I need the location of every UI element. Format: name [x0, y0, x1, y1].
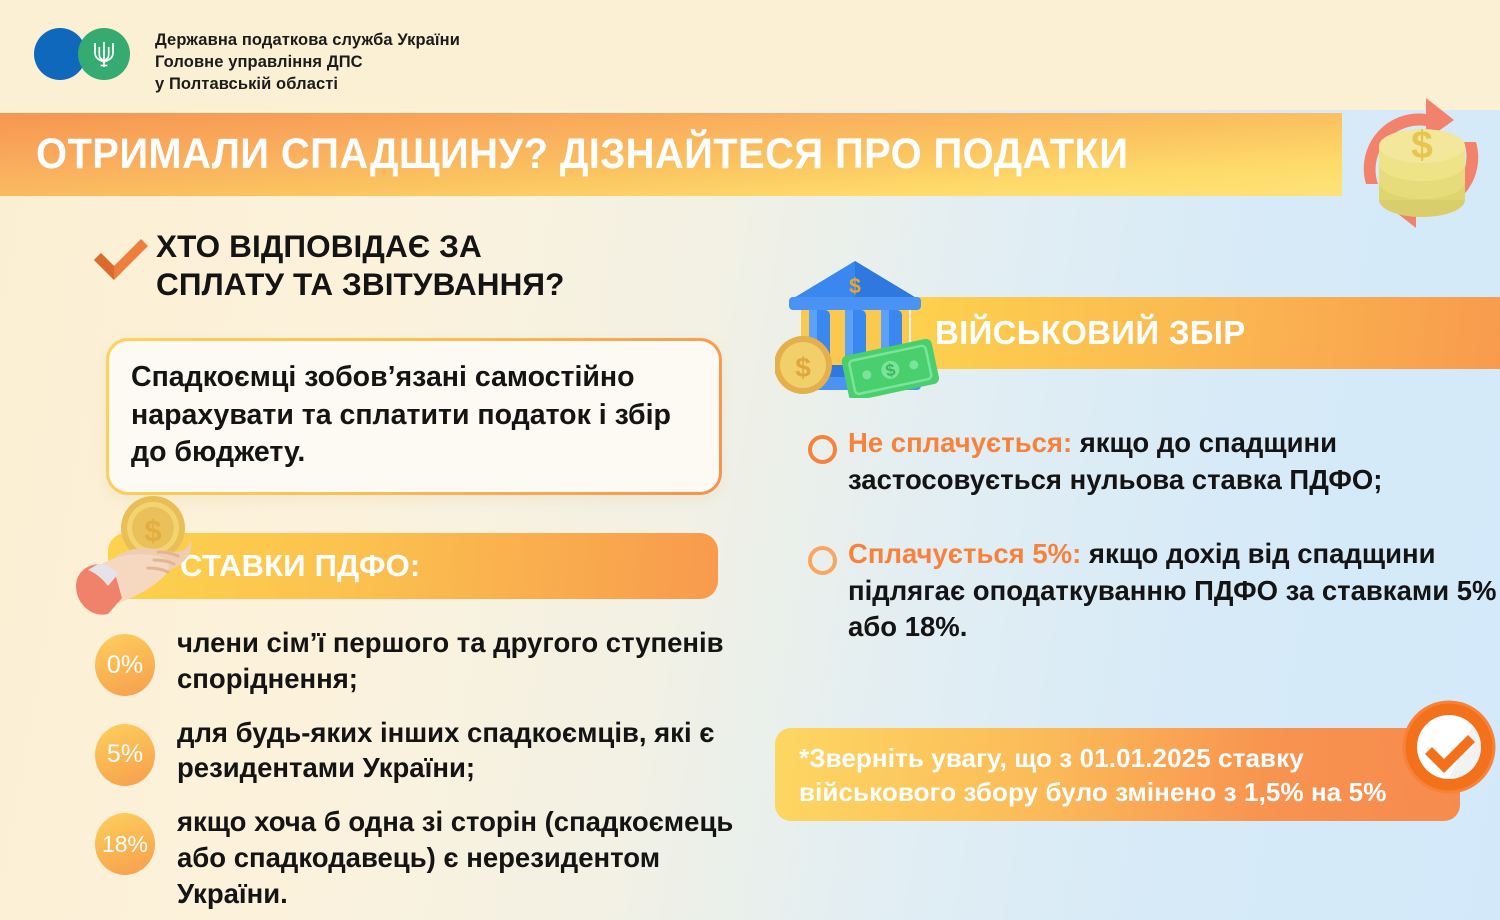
responsibility-info-text: Спадкоємці зобов’язані самостійно нараху… [131, 359, 697, 472]
responsibility-heading-line-2: СПЛАТУ ТА ЗВІТУВАННЯ? [156, 266, 565, 304]
bullet-item: Сплачується 5%: якщо дохід від спадщини … [808, 536, 1498, 646]
rate-description: члени сім’ї першого та другого ступенів … [177, 625, 745, 697]
rate-description: якщо хоча б одна зі сторін (спадкоємець … [177, 804, 745, 911]
svg-text:$: $ [144, 513, 161, 548]
orange-checkmark-icon [90, 234, 152, 284]
pdfo-rates-list: 0% члени сім’ї першого та другого ступен… [95, 625, 745, 920]
hand-holding-coin-icon: $ [62, 494, 220, 622]
rate-row: 0% члени сім’ї першого та другого ступен… [95, 625, 745, 697]
svg-text:$: $ [795, 352, 811, 383]
orange-check-badge-icon [1398, 696, 1500, 798]
rate-badge: 5% [95, 724, 155, 786]
bullet-lead: Сплачується 5%: [848, 538, 1081, 569]
military-levy-banner-label: ВІЙСЬКОВИЙ ЗБІР [935, 314, 1246, 352]
note-box: *Зверніть увагу, що з 01.01.2025 ставку … [775, 728, 1460, 821]
rate-row: 5% для будь-яких інших спадкоємців, які … [95, 715, 745, 787]
responsibility-heading-text: ХТО ВІДПОВІДАЄ ЗА СПЛАТУ ТА ЗВІТУВАННЯ? [156, 228, 565, 304]
responsibility-heading: ХТО ВІДПОВІДАЄ ЗА СПЛАТУ ТА ЗВІТУВАННЯ? [90, 228, 730, 304]
military-levy-bullets: Не сплачується: якщо до спадщини застосо… [808, 425, 1498, 684]
bullet-text: Не сплачується: якщо до спадщини застосо… [848, 425, 1498, 498]
responsibility-heading-line-1: ХТО ВІДПОВІДАЄ ЗА [156, 228, 565, 266]
bullet-text: Сплачується 5%: якщо дохід від спадщини … [848, 536, 1498, 646]
left-column: ХТО ВІДПОВІДАЄ ЗА СПЛАТУ ТА ЗВІТУВАННЯ? … [0, 0, 760, 920]
bank-money-icon: $ $ $ [775, 255, 940, 398]
ring-bullet-icon [808, 435, 837, 464]
rate-row: 18% якщо хоча б одна зі сторін (спадкоєм… [95, 804, 745, 911]
right-column: ВІЙСЬКОВИЙ ЗБІР $ $ [760, 0, 1500, 920]
rate-badge: 0% [95, 634, 155, 696]
responsibility-info-box: Спадкоємці зобов’язані самостійно нараху… [106, 338, 722, 495]
rate-description: для будь-яких інших спадкоємців, які є р… [177, 715, 745, 787]
infographic-poster: Державна податкова служба України Головн… [0, 0, 1500, 920]
bullet-item: Не сплачується: якщо до спадщини застосо… [808, 425, 1498, 498]
svg-text:$: $ [849, 275, 861, 298]
note-text: *Зверніть увагу, що з 01.01.2025 ставку … [799, 741, 1436, 810]
bullet-lead: Не сплачується: [848, 427, 1072, 458]
rate-badge: 18% [95, 813, 155, 875]
ring-bullet-icon [808, 546, 837, 575]
military-levy-banner: ВІЙСЬКОВИЙ ЗБІР [911, 297, 1500, 369]
